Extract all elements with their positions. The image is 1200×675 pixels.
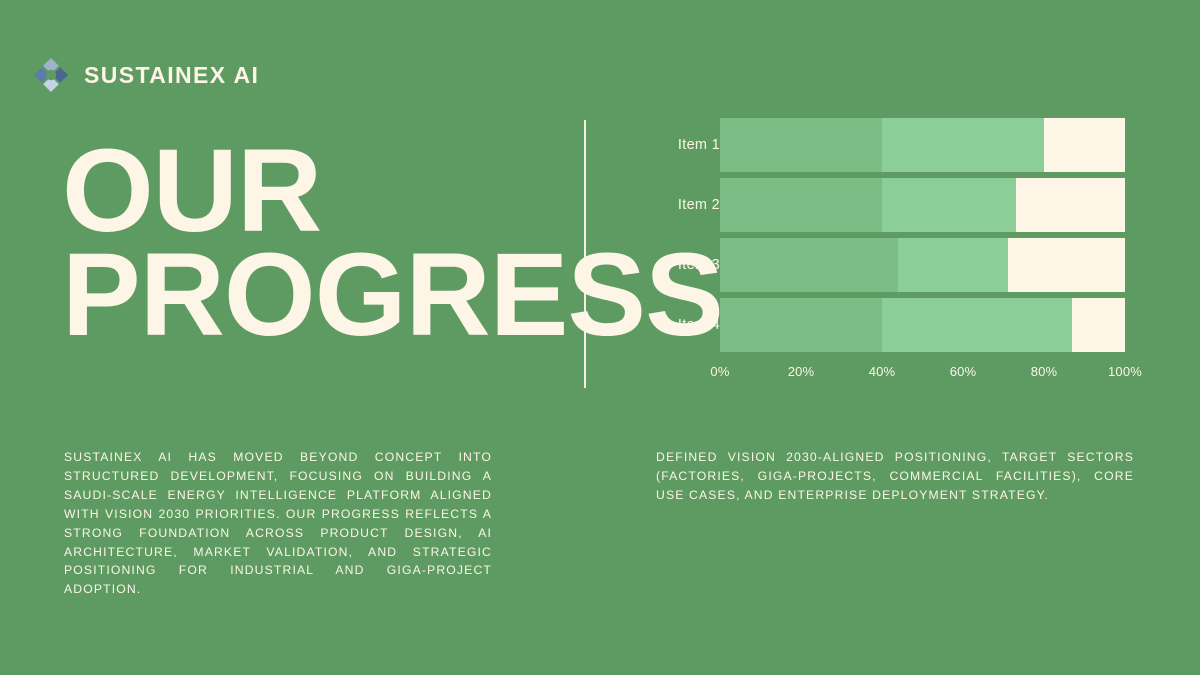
chart-bar-segment xyxy=(720,298,882,352)
chart-row-label: Item 1 xyxy=(655,137,720,153)
chart-bar-row: Item 4 xyxy=(655,298,1125,352)
brand-name: SUSTAINEX AI xyxy=(84,62,259,89)
chart-rows: Item 1Item 2Item 3Item 4 xyxy=(655,118,1125,352)
vertical-divider xyxy=(584,120,586,388)
page-title-line-2: PROGRESS xyxy=(62,244,532,348)
chart-x-tick-label: 40% xyxy=(869,364,896,379)
chart-row-label: Item 2 xyxy=(655,197,720,213)
chart-bar-segment xyxy=(1016,178,1125,232)
body-right-text: Defined Vision 2030-aligned positioning,… xyxy=(656,448,1134,505)
chart-bar-segment xyxy=(720,178,882,232)
chart-bar-segment xyxy=(882,298,1072,352)
chart-bar-track xyxy=(720,118,1125,172)
body-left-text: Sustainex AI has moved beyond concept in… xyxy=(64,448,492,599)
chart-bar-segment xyxy=(898,238,1007,292)
chart-row-label: Item 4 xyxy=(655,317,720,333)
chart-bar-segment xyxy=(882,178,1016,232)
chart-x-axis: 0%20%40%60%80%100% xyxy=(720,358,1125,384)
chart-bar-segment xyxy=(720,118,882,172)
chart-x-tick-label: 100% xyxy=(1108,364,1142,379)
chart-x-tick-label: 80% xyxy=(1031,364,1058,379)
brand-logo: SUSTAINEX AI xyxy=(32,56,259,94)
chart-bar-track xyxy=(720,178,1125,232)
chart-bar-segment xyxy=(1008,238,1125,292)
chart-x-tick-label: 0% xyxy=(710,364,729,379)
chart-x-tick-label: 60% xyxy=(950,364,977,379)
chart-bar-row: Item 2 xyxy=(655,178,1125,232)
body-paragraph-right: Defined Vision 2030-aligned positioning,… xyxy=(656,448,1134,505)
body-paragraph-left: Sustainex AI has moved beyond concept in… xyxy=(64,448,492,599)
chart-bar-row: Item 3 xyxy=(655,238,1125,292)
chart-bar-segment xyxy=(720,238,898,292)
chart-bar-segment xyxy=(1044,118,1125,172)
diamond-logo-icon xyxy=(32,56,70,94)
chart-bar-segment xyxy=(1072,298,1125,352)
chart-bar-track xyxy=(720,298,1125,352)
chart-bar-row: Item 1 xyxy=(655,118,1125,172)
chart-row-label: Item 3 xyxy=(655,257,720,273)
chart-bar-track xyxy=(720,238,1125,292)
chart-bar-segment xyxy=(882,118,1044,172)
page-title: OUR PROGRESS xyxy=(62,140,532,348)
stacked-bar-chart: Item 1Item 2Item 3Item 4 0%20%40%60%80%1… xyxy=(655,118,1125,390)
chart-x-tick-label: 20% xyxy=(788,364,815,379)
